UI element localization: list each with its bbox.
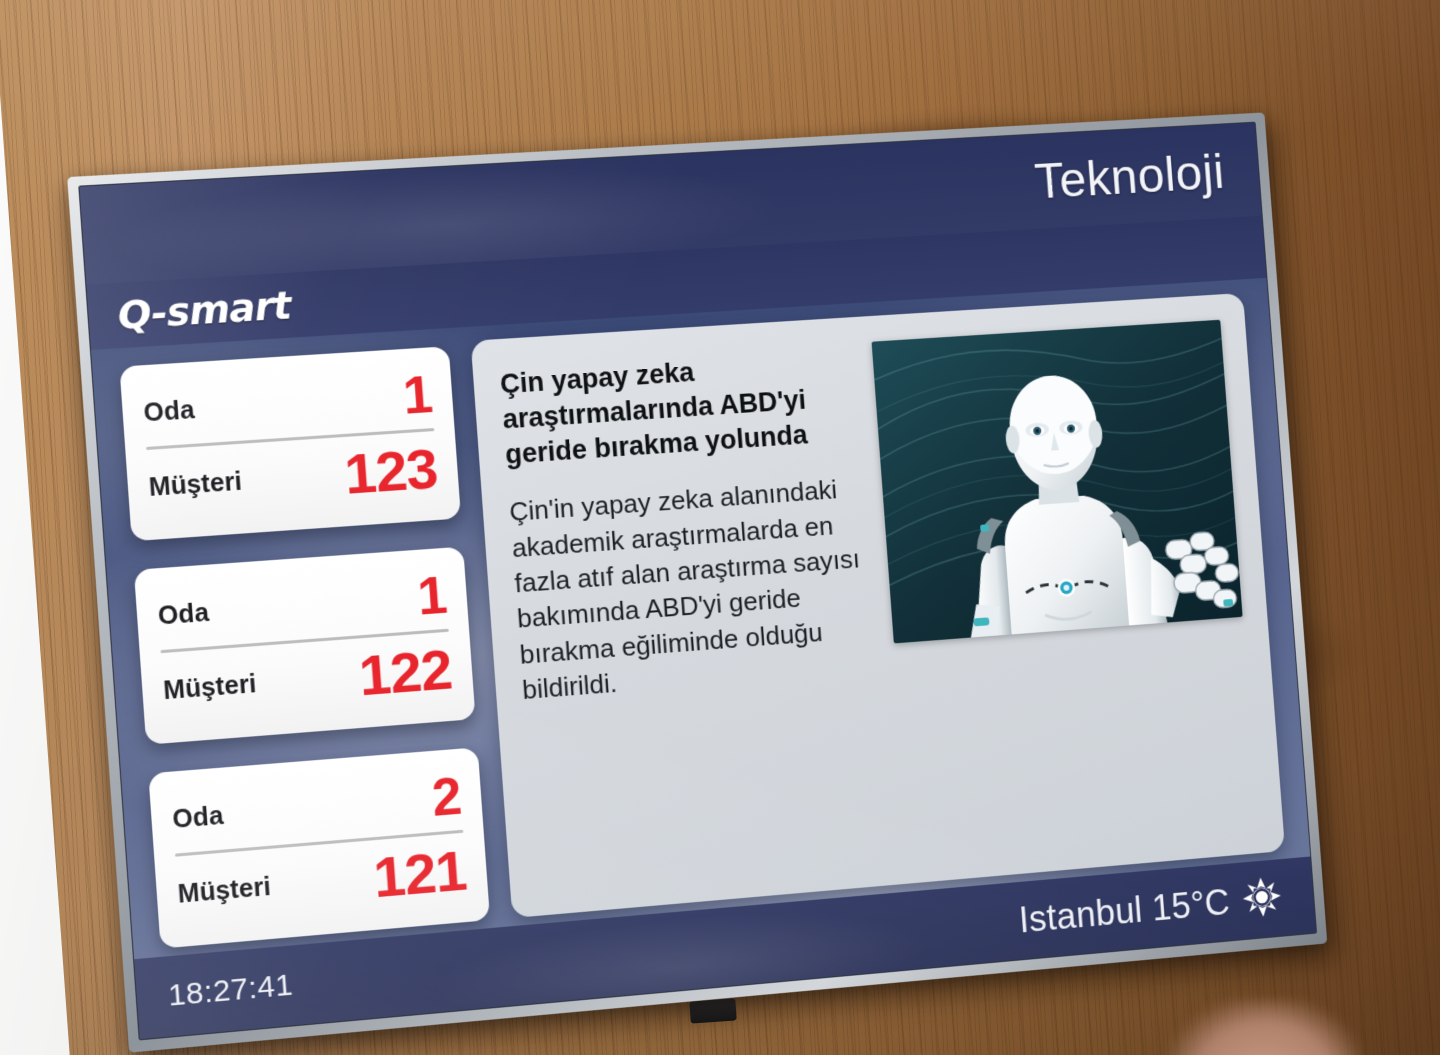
signage-screen: Teknoloji Q-smart Oda 1 bbox=[79, 123, 1316, 1040]
news-headline: Çin yapay zeka araştırmalarında ABD'yi g… bbox=[499, 345, 860, 473]
room-scene: Teknoloji Q-smart Oda 1 bbox=[0, 0, 1440, 1055]
customer-value: 123 bbox=[343, 440, 439, 503]
category-title: Teknoloji bbox=[1033, 143, 1226, 210]
queue-customer-row: Müşteri 122 bbox=[161, 641, 453, 720]
room-value: 1 bbox=[416, 569, 448, 624]
sun-icon bbox=[1241, 875, 1282, 922]
room-value: 1 bbox=[401, 369, 433, 423]
robot-illustration bbox=[872, 320, 1243, 644]
brand-logo: Q-smart bbox=[116, 283, 292, 338]
room-label: Oda bbox=[171, 801, 224, 835]
person-silhouette bbox=[1170, 1000, 1360, 1055]
room-label: Oda bbox=[157, 598, 210, 631]
clock: 18:27:41 bbox=[167, 968, 294, 1014]
queue-customer-row: Müşteri 123 bbox=[147, 440, 439, 516]
weather-location-temp: Istanbul 15°C bbox=[1018, 881, 1232, 941]
screen-body: Oda 1 Müşteri 123 bbox=[91, 278, 1310, 959]
news-panel[interactable]: Çin yapay zeka araştırmalarında ABD'yi g… bbox=[471, 293, 1286, 918]
customer-label: Müşteri bbox=[148, 467, 243, 503]
news-body-text: Çin'in yapay zeka alanındaki akademik ar… bbox=[508, 471, 877, 709]
tv-screen-area: Teknoloji Q-smart Oda 1 bbox=[78, 122, 1317, 1041]
queue-card[interactable]: Oda 1 Müşteri 122 bbox=[134, 547, 476, 745]
room-value: 2 bbox=[430, 770, 462, 825]
humanoid-robot-image bbox=[872, 320, 1243, 644]
tv-bezel: Teknoloji Q-smart Oda 1 bbox=[67, 112, 1327, 1052]
customer-value: 121 bbox=[372, 842, 468, 907]
queue-card-list: Oda 1 Müşteri 123 bbox=[119, 342, 490, 948]
digital-signage-display: Teknoloji Q-smart Oda 1 bbox=[67, 112, 1327, 1052]
queue-customer-row: Müşteri 121 bbox=[176, 842, 468, 923]
customer-label: Müşteri bbox=[177, 872, 272, 910]
queue-room-row: Oda 1 bbox=[142, 369, 434, 440]
news-media-column bbox=[872, 320, 1259, 864]
room-label: Oda bbox=[143, 395, 196, 428]
customer-value: 122 bbox=[357, 641, 453, 705]
weather-widget[interactable]: Istanbul 15°C bbox=[1018, 875, 1283, 943]
queue-card[interactable]: Oda 1 Müşteri 123 bbox=[119, 346, 461, 541]
news-text-column: Çin yapay zeka araştırmalarında ABD'yi g… bbox=[499, 343, 891, 896]
customer-label: Müşteri bbox=[162, 669, 257, 706]
queue-card[interactable]: Oda 2 Müşteri 121 bbox=[148, 747, 490, 948]
